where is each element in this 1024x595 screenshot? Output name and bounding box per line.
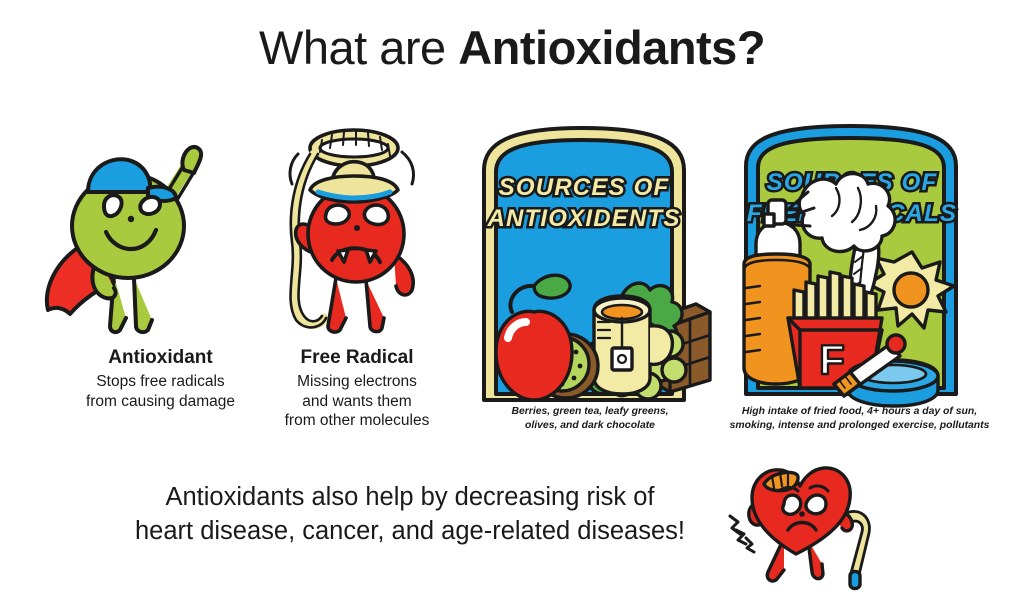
free-radicals-caption-line-2: smoking, intense and prolonged exercise,… xyxy=(712,419,1007,433)
antioxidant-hero-illustration xyxy=(30,118,235,343)
page-title: What are Antioxidants? xyxy=(0,22,1024,74)
right-eye xyxy=(364,205,388,224)
left-eye xyxy=(783,495,801,514)
antioxidant-desc-line-1: Stops free radicals xyxy=(42,372,279,392)
sources-of-antioxidants-panel: SOURCES OF SOURCES OF ANTIOXIDENTS ANTIO… xyxy=(470,122,715,404)
free-radicals-caption-line-1: High intake of fried food, 4+ hours a da… xyxy=(712,405,1007,419)
right-eye xyxy=(806,495,826,514)
right-eye xyxy=(140,197,160,214)
free-radical-label-block: Free Radical Missing electrons and wants… xyxy=(252,346,462,431)
sign-line-2: ANTIOXIDENTS xyxy=(486,205,680,232)
apple-leaf xyxy=(534,275,570,298)
left-eye xyxy=(325,205,349,224)
antioxidants-caption-line-1: Berries, green tea, leafy greens, xyxy=(465,405,715,419)
antioxidant-label-block: Antioxidant Stops free radicals from cau… xyxy=(42,346,279,411)
fries-box-letter: F xyxy=(819,336,845,383)
free-radicals-panel-caption: High intake of fried food, 4+ hours a da… xyxy=(712,405,1007,433)
free-radical-illustration xyxy=(270,118,450,343)
free-radical-name: Free Radical xyxy=(252,346,462,370)
free-radical-desc-line-3: from other molecules xyxy=(252,411,462,431)
cap-crown xyxy=(88,159,150,192)
free-radical-desc-line-1: Missing electrons xyxy=(252,372,462,392)
sources-of-free-radicals-panel: SOURCES OF SOURCES OF FREE RADICALS FREE… xyxy=(730,122,998,404)
sign-line-1: SOURCES OF xyxy=(499,174,670,201)
bottom-statement-line-1: Antioxidants also help by decreasing ris… xyxy=(90,481,730,515)
bottom-statement-line-2: heart disease, cancer, and age-related d… xyxy=(90,515,730,549)
page-title-light: What are xyxy=(259,21,458,74)
antioxidants-caption-line-2: olives, and dark chocolate xyxy=(465,419,715,433)
free-radical-desc-line-2: and wants them xyxy=(252,392,462,412)
nose-dot xyxy=(128,216,134,222)
left-eye xyxy=(104,195,122,216)
cane-tip xyxy=(850,572,860,589)
bottom-statement: Antioxidants also help by decreasing ris… xyxy=(90,481,730,549)
pointing-hand xyxy=(182,147,201,173)
page-title-bold: Antioxidants? xyxy=(458,21,765,74)
antioxidants-panel-caption: Berries, green tea, leafy greens, olives… xyxy=(465,405,715,433)
nose-dot xyxy=(799,511,805,517)
nose-dot xyxy=(354,225,360,231)
infographic-canvas: What are Antioxidants? xyxy=(0,0,1024,595)
sick-heart-illustration xyxy=(722,442,882,594)
antioxidant-name: Antioxidant xyxy=(42,346,279,370)
antioxidant-desc-line-2: from causing damage xyxy=(42,392,279,412)
